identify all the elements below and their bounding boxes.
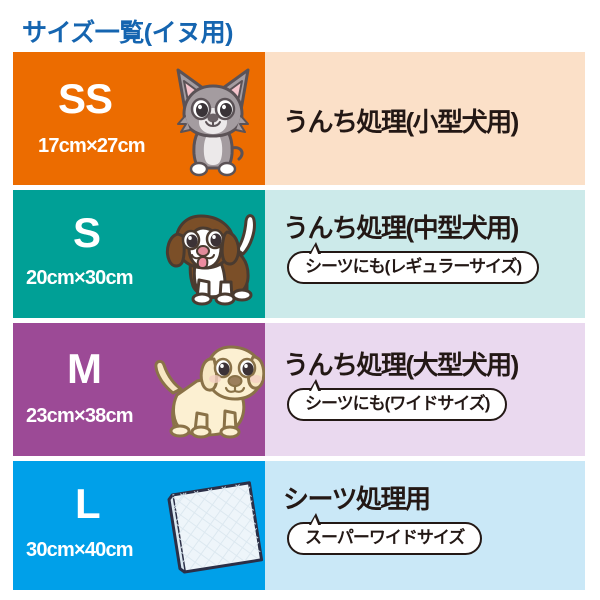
beagle-icon [163, 202, 265, 308]
size-chart: サイズ一覧(イヌ用) SS 17cm×27cm [0, 0, 600, 600]
usage-cell-s: うんち処理(中型犬用) シーツにも(レギュラーサイズ) [265, 190, 585, 318]
size-row-s: S 20cm×30cm [13, 190, 585, 318]
size-cell-l: L 30cm×40cm [13, 461, 265, 590]
usage-cell-ss: うんち処理(小型犬用) [265, 52, 585, 185]
size-cell-s: S 20cm×30cm [13, 190, 265, 318]
usage-note-m: シーツにも(ワイドサイズ) [287, 388, 507, 421]
size-row-ss: SS 17cm×27cm [13, 52, 585, 185]
usage-note-l: スーパーワイドサイズ [287, 522, 482, 555]
page-title: サイズ一覧(イヌ用) [22, 13, 233, 49]
size-cell-ss: SS 17cm×27cm [13, 52, 265, 185]
usage-note-text-l: スーパーワイドサイズ [305, 528, 464, 547]
usage-note-text-m: シーツにも(ワイドサイズ) [305, 394, 489, 413]
chihuahua-icon [165, 62, 261, 180]
pet-sheet-icon [156, 473, 265, 583]
size-row-l: L 30cm×40cm シーツ処理用 [13, 461, 585, 590]
labrador-icon [153, 337, 265, 449]
usage-text-ss: うんち処理(小型犬用) [283, 102, 518, 139]
usage-cell-l: シーツ処理用 スーパーワイドサイズ [265, 461, 585, 590]
usage-text-l: シーツ処理用 [283, 479, 429, 516]
usage-text-s: うんち処理(中型犬用) [283, 208, 518, 245]
size-cell-m: M 23cm×38cm [13, 323, 265, 456]
size-row-m: M 23cm×38cm [13, 323, 585, 456]
usage-note-text-s: シーツにも(レギュラーサイズ) [305, 257, 521, 276]
usage-cell-m: うんち処理(大型犬用) シーツにも(ワイドサイズ) [265, 323, 585, 456]
usage-text-m: うんち処理(大型犬用) [283, 345, 518, 382]
usage-note-s: シーツにも(レギュラーサイズ) [287, 251, 539, 284]
